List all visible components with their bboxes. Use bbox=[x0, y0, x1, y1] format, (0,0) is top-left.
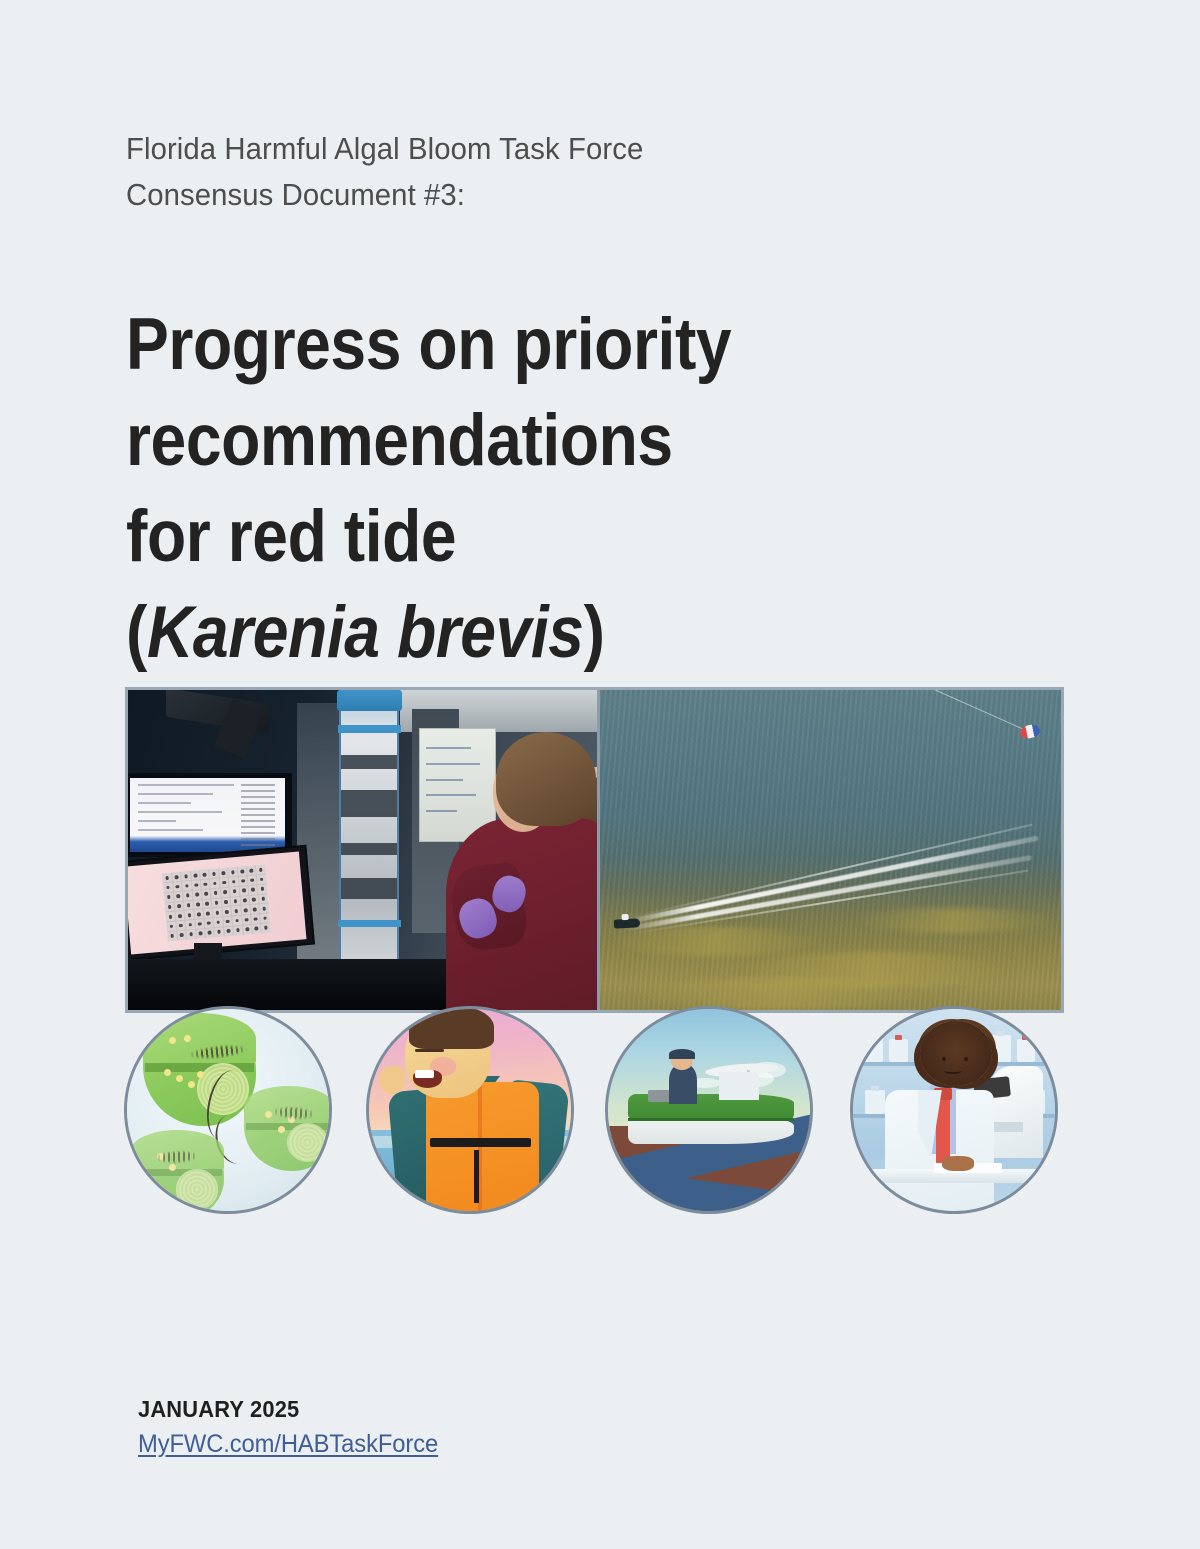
title-paren-close: ) bbox=[584, 592, 605, 673]
scientist-hair bbox=[920, 1021, 993, 1086]
plankton-imaging-screen bbox=[128, 851, 306, 954]
title-line-3: for red tide bbox=[126, 489, 830, 585]
title-paren-open: ( bbox=[126, 592, 147, 673]
aerial-red-tide-photo bbox=[600, 690, 1061, 1010]
karenia-brevis-cells-illustration bbox=[124, 1006, 332, 1214]
respiratory-irritation-illustration bbox=[366, 1006, 574, 1214]
flow-cytometer-instrument bbox=[339, 690, 399, 984]
title-line-2: recommendations bbox=[126, 393, 830, 489]
title-species-name: Karenia brevis bbox=[147, 592, 584, 673]
lab-monitor-upper-screen bbox=[130, 778, 284, 852]
plankton-thumbnail-grid bbox=[162, 865, 270, 941]
software-window-rows bbox=[138, 784, 234, 828]
title-line-4: (Karenia brevis) bbox=[126, 585, 830, 681]
illustration-circle-row bbox=[124, 1006, 1074, 1216]
laboratory-scientist-illustration bbox=[850, 1006, 1058, 1214]
lab-researcher-photo bbox=[128, 690, 600, 1010]
speedboat bbox=[614, 918, 640, 928]
task-force-website-link[interactable]: MyFWC.com/HABTaskForce bbox=[138, 1430, 438, 1459]
title-line-1: Progress on priority bbox=[126, 297, 830, 393]
cover-page: Florida Harmful Algal Bloom Task Force C… bbox=[0, 0, 1200, 1549]
researcher-hair bbox=[496, 732, 596, 827]
lab-monitor-upper bbox=[128, 773, 292, 857]
photo-band bbox=[125, 687, 1064, 1013]
publication-date: JANUARY 2025 bbox=[138, 1396, 708, 1423]
beachgoer-hand bbox=[379, 1066, 405, 1094]
lab-researcher-figure bbox=[428, 732, 600, 1010]
boating-monitoring-illustration bbox=[605, 1006, 813, 1214]
boat-console bbox=[719, 1072, 759, 1100]
life-vest bbox=[426, 1082, 539, 1214]
cover-footer: JANUARY 2025 MyFWC.com/HABTaskForce bbox=[138, 1396, 738, 1459]
scientist-hands bbox=[942, 1156, 974, 1170]
operator-cap bbox=[669, 1049, 695, 1059]
boat-operator bbox=[669, 1064, 697, 1104]
software-sidebar-rows bbox=[241, 784, 275, 836]
page-title: Progress on priority recommendations for… bbox=[126, 297, 830, 681]
series-label: Florida Harmful Algal Bloom Task Force C… bbox=[126, 126, 856, 218]
